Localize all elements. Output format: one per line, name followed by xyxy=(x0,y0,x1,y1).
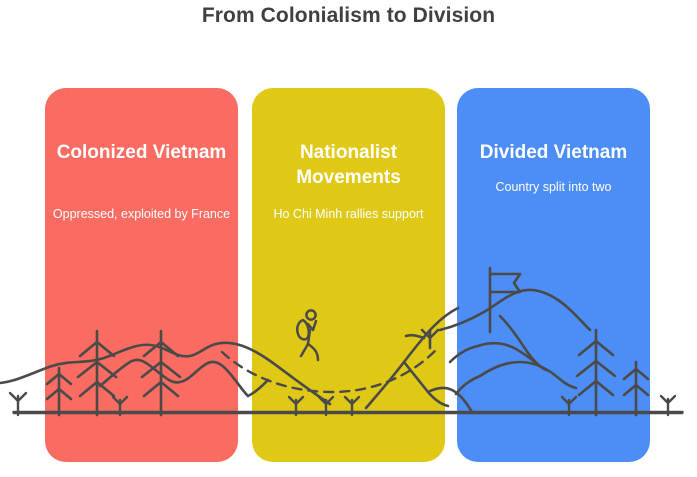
panel-heading-colonized-vietnam: Colonized Vietnam xyxy=(45,140,238,165)
panel-heading-nationalist-movements: Nationalist Movements xyxy=(252,140,445,190)
panel-heading-divided-vietnam: Divided Vietnam xyxy=(457,140,650,165)
panel-subtitle-colonized-vietnam: Oppressed, exploited by France xyxy=(45,205,238,223)
panel-nationalist-movements[interactable]: Nationalist Movements Ho Chi Minh rallie… xyxy=(252,88,445,462)
infographic-canvas: From Colonialism to Division Colonized V… xyxy=(0,0,697,477)
panel-colonized-vietnam[interactable]: Colonized Vietnam Oppressed, exploited b… xyxy=(45,88,238,462)
panel-group: Colonized Vietnam Oppressed, exploited b… xyxy=(0,0,697,477)
panel-subtitle-nationalist-movements: Ho Chi Minh rallies support xyxy=(252,205,445,223)
panel-divided-vietnam[interactable]: Divided Vietnam Country split into two xyxy=(457,88,650,462)
panel-subtitle-divided-vietnam: Country split into two xyxy=(457,178,650,196)
